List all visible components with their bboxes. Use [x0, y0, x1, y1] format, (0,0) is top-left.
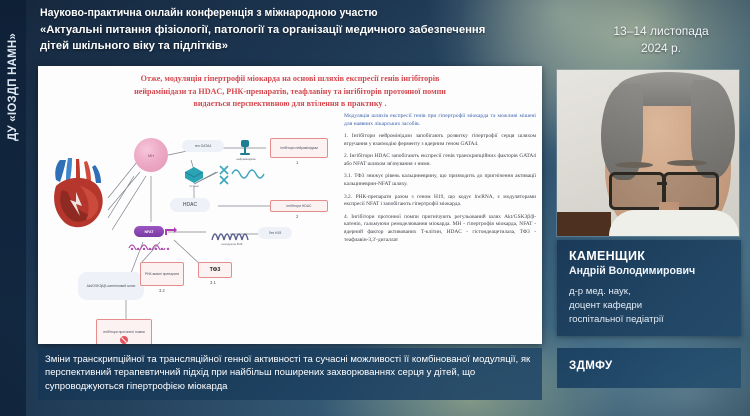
diagram-node-tf3: ТФ3: [198, 262, 232, 278]
speaker-role-line3: госпітальної педіатрії: [569, 313, 664, 327]
speaker-role: д-р мед. наук, доцент кафедри госпітальн…: [569, 285, 664, 327]
diagram-node-hdac: HDAC: [170, 198, 210, 212]
video-background-furniture: [557, 212, 611, 236]
diagram-number-2: 2: [296, 214, 298, 219]
institution-badge-label: ЗДМФУ: [569, 360, 613, 372]
conference-header-line3: дітей шкільного віку та підлітків»: [40, 38, 540, 55]
speaker-video-tile[interactable]: [557, 70, 739, 236]
presentation-title-caption: Зміни транскрипційної та трансляційної г…: [38, 348, 542, 400]
slide-title-line1: Отже, модуляція гіпертрофії міокарда на …: [46, 73, 534, 86]
slide-text-item-4: 3.2. РНК-препарати разом з геном Н19, що…: [344, 194, 536, 209]
conference-header-line1: Науково-практична онлайн конференція з м…: [40, 5, 540, 22]
video-participant-eyebrow-left: [615, 162, 653, 168]
slide-text-item-3: 3.1. ТФ3 знижує рівень кальциневрину, що…: [344, 173, 536, 188]
diagram-number-1: 1: [296, 160, 298, 165]
diagram-label-noncoding-rna: некодуюча РНК: [208, 243, 256, 247]
conference-header: Науково-практична онлайн конференція з м…: [40, 5, 540, 55]
diagram-node-neuraminidase-inhibitors: інгібітори нейрамінідази: [270, 138, 328, 158]
slide-explanatory-text: Модуляція шляхів експресії генів при гіп…: [344, 112, 536, 249]
diagram-node-hdac-inhibitors: інгібітори HDAC: [270, 200, 328, 212]
diagram-node-histones-shape: [182, 166, 206, 184]
slide-text-lead: Модуляція шляхів експресії генів при гіп…: [344, 112, 536, 128]
diagram-label-histones: гістони: [180, 185, 208, 189]
diagram-node-rna-drugs: РНК-вмісні препарати: [140, 262, 184, 286]
diagram-node-noncoding-rna: [210, 226, 254, 242]
diagram-node-myocardial-hypertrophy: МН: [134, 138, 168, 172]
conference-header-line2: «Актуальні питання фізіології, патології…: [40, 22, 540, 39]
diagram-node-nfat: NFAT: [134, 226, 164, 237]
slide-title-line2: нейрамінідази та HDAC, РНК-препаратів, т…: [46, 86, 534, 99]
diagram-node-gata4: ген GATA4: [182, 140, 224, 152]
slide-title: Отже, модуляція гіпертрофії міокарда на …: [46, 73, 534, 111]
diagram-node-gene-h19: Ген Н19: [258, 227, 292, 239]
conference-stream-frame: ДУ «ІОЗДП НАМН» Науково-практична онлайн…: [0, 0, 750, 416]
speaker-role-line1: д-р мед. наук,: [569, 285, 664, 299]
diagram-icon-neuraminidase: [238, 140, 252, 156]
slide-text-item-2: 2. Інгібітори HDAC запобігають експресії…: [344, 153, 536, 168]
heart-illustration: [46, 156, 110, 230]
speaker-given-name: Андрій Володимирович: [569, 265, 695, 277]
conference-date: 13–14 листопада 2024 р.: [596, 23, 726, 57]
diagram-icon-dna-strand: [128, 237, 172, 244]
conference-date-line1: 13–14 листопада: [596, 23, 726, 40]
diagram-number-3-2: 3.2: [159, 288, 165, 293]
video-participant-glasses-bridge: [657, 182, 667, 185]
institution-badge: ЗДМФУ: [557, 348, 741, 388]
organizer-vertical-label: ДУ «ІОЗДП НАМН»: [2, 0, 24, 175]
presentation-title-text: Зміни транскрипційної та трансляційної г…: [38, 348, 542, 393]
speaker-surname: КАМЕНЩИК: [569, 249, 645, 263]
speaker-role-line2: доцент кафедри: [569, 299, 664, 313]
signalling-pathway-diagram: МН ген GATA4 гістони: [42, 114, 338, 340]
presentation-slide[interactable]: Отже, модуляція гіпертрофії міокарда на …: [38, 66, 542, 344]
diagram-icon-pill: [119, 335, 129, 344]
slide-text-item-5: 4. Інгібітори протонної помпи пригнічуют…: [344, 214, 536, 244]
diagram-node-akt-pathway: Akt/GSK3β/β-катеніновий шлях: [78, 272, 144, 300]
conference-date-line2: 2024 р.: [596, 40, 726, 57]
diagram-number-3-1: 3.1: [210, 280, 216, 285]
speaker-name-card: КАМЕНЩИК Андрій Володимирович д-р мед. н…: [557, 240, 741, 336]
video-participant-glasses-left: [609, 172, 665, 210]
diagram-label-neuraminidase: нейрамінідаза: [228, 158, 264, 162]
video-participant-shirt: [609, 210, 739, 236]
video-participant-eyebrow-right: [667, 160, 707, 166]
slide-text-item-1: 1. Інгібітори нейромінідази запобігають …: [344, 133, 536, 148]
slide-title-line3: видається перспективною для втілення в п…: [46, 98, 534, 111]
diagram-node-chromatin: [218, 162, 268, 186]
